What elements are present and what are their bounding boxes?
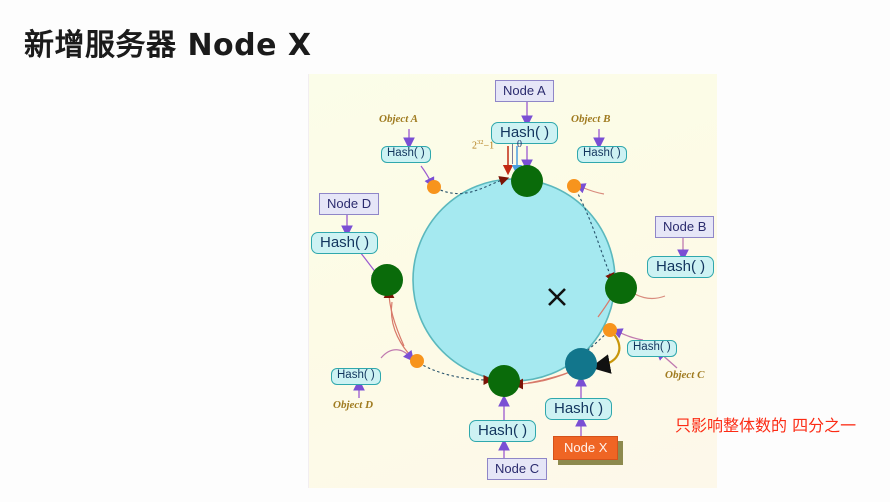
hash-box-object-b[interactable]: Hash( ) xyxy=(577,146,627,163)
object-c-label: Object C xyxy=(665,370,704,381)
node-x-box[interactable]: Node X xyxy=(553,436,618,460)
hash-box-node-a[interactable]: Hash( ) xyxy=(491,122,558,144)
server-node-x[interactable] xyxy=(565,348,597,380)
object-a-dot[interactable] xyxy=(427,180,441,194)
hash-box-node-x[interactable]: Hash( ) xyxy=(545,398,612,420)
hash-box-node-c[interactable]: Hash( ) xyxy=(469,420,536,442)
server-node-a[interactable] xyxy=(511,165,543,197)
server-node-d[interactable] xyxy=(371,264,403,296)
connector-hash-b-to-dot xyxy=(579,186,604,194)
server-node-c[interactable] xyxy=(488,365,520,397)
node-b-box[interactable]: Node B xyxy=(655,216,714,238)
object-b-label: Object B xyxy=(571,114,610,125)
hash-box-node-d[interactable]: Hash( ) xyxy=(311,232,378,254)
hash-box-node-b[interactable]: Hash( ) xyxy=(647,256,714,278)
ring-tick-zero: 0 xyxy=(517,140,522,150)
object-b-dot[interactable] xyxy=(567,179,581,193)
connector-hash-objc-to-dot xyxy=(616,331,643,340)
hash-box-object-c[interactable]: Hash( ) xyxy=(627,340,677,357)
arc-ownership-d xyxy=(391,302,409,354)
node-c-box[interactable]: Node C xyxy=(487,458,547,480)
node-d-box[interactable]: Node D xyxy=(319,193,379,215)
ring-tick-minus: −1 xyxy=(484,140,495,151)
page-title: 新增服务器 Node X xyxy=(24,20,312,64)
server-node-b[interactable] xyxy=(605,272,637,304)
object-a-label: Object A xyxy=(379,114,418,125)
object-c-dot[interactable] xyxy=(603,323,617,337)
object-d-label: Object D xyxy=(333,400,373,411)
impact-annotation: 只影响整体数的 四分之一 xyxy=(675,414,865,437)
object-d-dot[interactable] xyxy=(410,354,424,368)
hash-box-object-a[interactable]: Hash( ) xyxy=(381,146,431,163)
hash-box-object-d[interactable]: Hash( ) xyxy=(331,368,381,385)
ring-tick-max: 232−1 xyxy=(472,140,494,151)
arc-ownership-e xyxy=(389,292,404,346)
node-a-box[interactable]: Node A xyxy=(495,80,554,102)
consistent-hashing-diagram: Node A Hash( ) Object A Hash( ) Object B… xyxy=(308,74,717,488)
